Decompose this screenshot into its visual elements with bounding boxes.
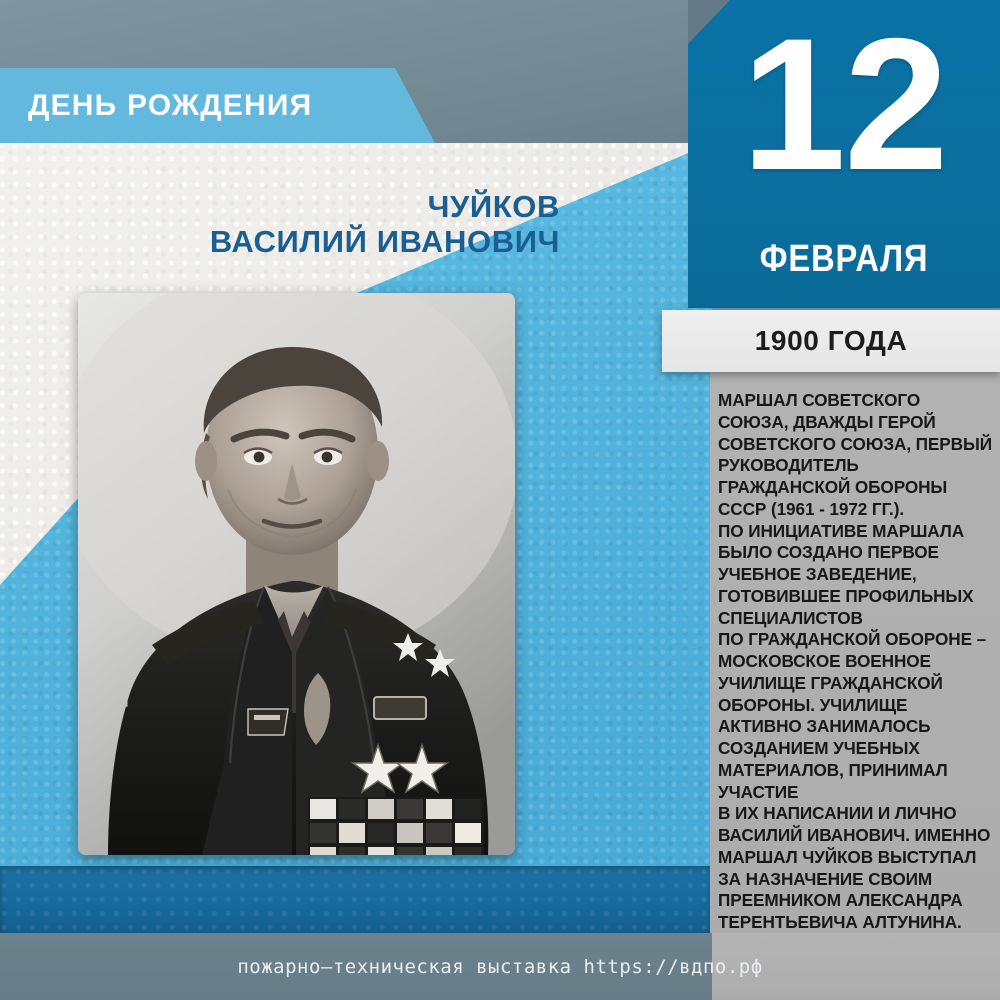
background-blue-bottom-band <box>0 866 712 933</box>
year-chip: 1900 ГОДА <box>662 310 1000 372</box>
header-ribbon: ДЕНЬ РОЖДЕНИЯ <box>0 68 435 143</box>
description-panel: МАРШАЛ СОВЕТСКОГО СОЮЗА, ДВАЖДЫ ГЕРОЙ СО… <box>710 372 1000 933</box>
header-ribbon-label: ДЕНЬ РОЖДЕНИЯ <box>28 89 312 123</box>
footer-caption: пожарно–техническая выставка https://вдп… <box>0 933 1000 1000</box>
description-text: МАРШАЛ СОВЕТСКОГО СОЮЗА, ДВАЖДЫ ГЕРОЙ СО… <box>718 390 994 934</box>
person-full-name: ВАСИЛИЙ ИВАНОВИЧ <box>0 225 560 260</box>
poster-canvas: ДЕНЬ РОЖДЕНИЯ ЧУЙКОВ ВАСИЛИЙ ИВАНОВИЧ <box>0 0 1000 1000</box>
portrait-photo <box>78 293 515 855</box>
year-chip-text: 1900 ГОДА <box>755 325 908 357</box>
date-month: ФЕВРАЛЯ <box>710 238 978 281</box>
person-surname: ЧУЙКОВ <box>0 190 560 225</box>
person-name-block: ЧУЙКОВ ВАСИЛИЙ ИВАНОВИЧ <box>0 190 560 259</box>
date-day: 12 <box>688 10 1000 198</box>
